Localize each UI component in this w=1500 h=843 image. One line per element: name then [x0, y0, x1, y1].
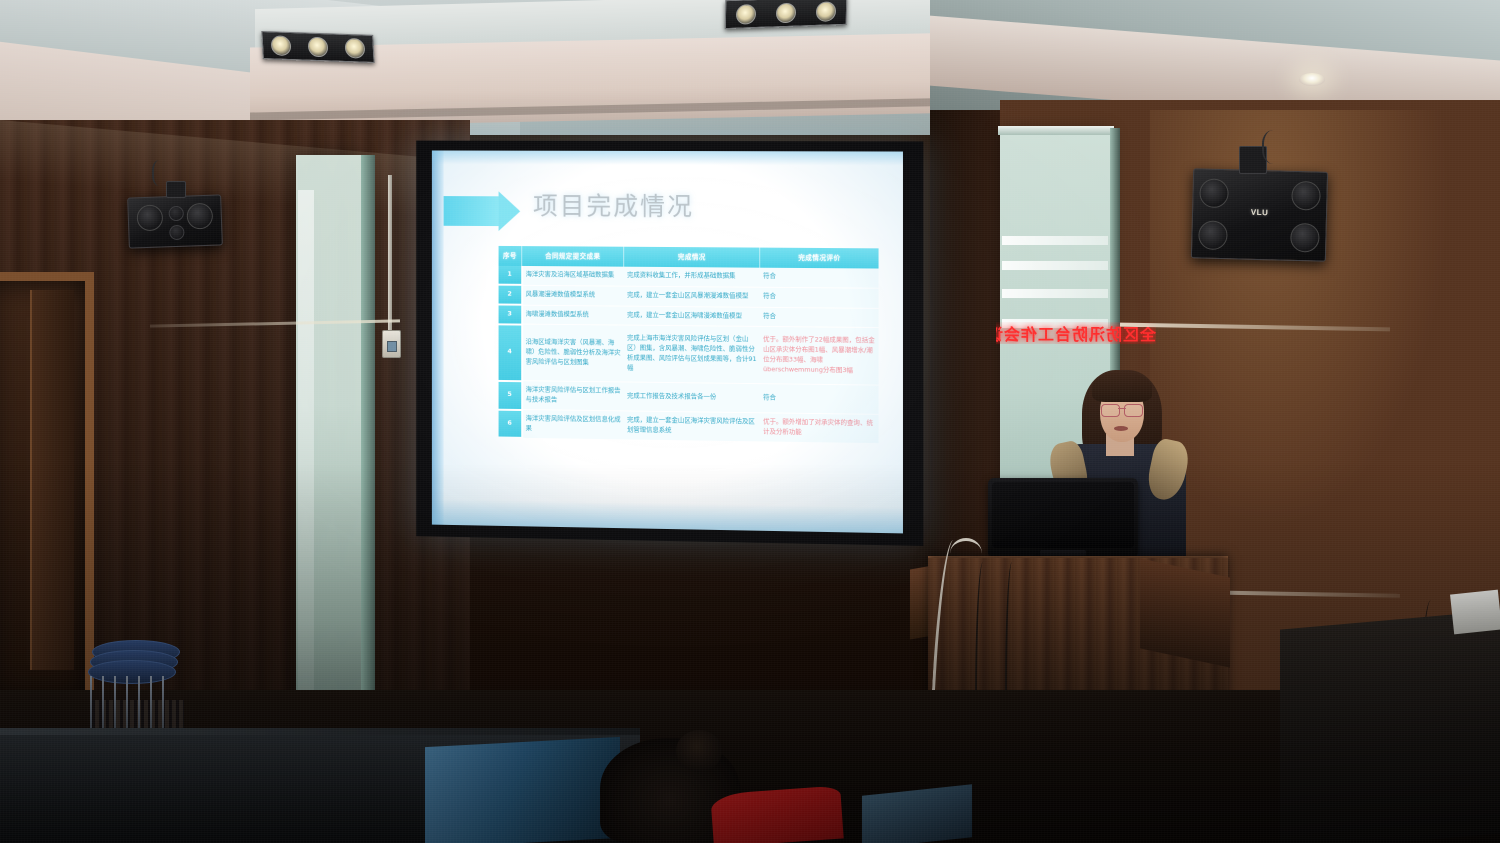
- row-evaluation: 符合: [760, 384, 878, 415]
- row-status: 完成，建立一套金山区海啸漫滩数值模型: [624, 306, 760, 327]
- glass-panel-right-top-trim: [998, 126, 1114, 135]
- row-evaluation: 优于。额外制作了22幅成果图，包括金山区承灾体分布图1幅、风暴潮增水/潮位分布图…: [760, 327, 878, 385]
- podium-monitor[interactable]: [988, 478, 1138, 556]
- row-status: 完成工作报告及技术报告各一份: [624, 382, 760, 413]
- speaker-cone-icon: [186, 203, 213, 230]
- row-no: 3: [499, 305, 522, 325]
- foreground-blue-object: [862, 784, 972, 843]
- wall-speaker-left: [127, 194, 223, 248]
- foreground-desk-right: [1280, 610, 1500, 843]
- row-no: 6: [499, 409, 522, 438]
- row-status: 完成资料收集工作，并形成基础数据集: [624, 267, 760, 287]
- frosted-stripe: [1002, 261, 1108, 270]
- presenter-glasses-icon: [1100, 404, 1144, 415]
- table-header-evaluation: 完成情况评价: [760, 248, 878, 269]
- table-row: 4 沿海区域海洋灾害（风暴潮、海啸）危险性、脆弱性分析及海洋灾害风险评估与区划图…: [499, 324, 879, 385]
- foreground-paper-sheet: [1450, 590, 1500, 635]
- glasses-lens-right: [1124, 404, 1143, 417]
- row-status: 完成，建立一套金山区海洋灾害风险评估及区划管理信息系统: [624, 411, 760, 442]
- speaker-cable-left: [152, 160, 170, 186]
- conference-room-photo: 全区防汛防台工作会议 VLU 项目完成情况 序号: [0, 0, 1500, 843]
- spotlight-lamp-icon: [816, 1, 836, 22]
- speaker-port-icon: [168, 206, 184, 222]
- podium-side-right: [1140, 558, 1230, 667]
- row-evaluation: 符合: [760, 287, 878, 308]
- spotlight-lamp-icon: [307, 37, 328, 58]
- speaker-cable-right: [1262, 130, 1290, 164]
- row-deliverable: 海洋灾害风险评估及区划信息化成果: [522, 410, 624, 440]
- switch-indicator-icon: [387, 341, 397, 352]
- speaker-cone-icon: [1291, 181, 1321, 211]
- row-evaluation: 符合: [760, 307, 878, 328]
- completion-status-table: 序号 合同规定提交成果 完成情况 完成情况评价 1 海洋灾害及沿海区域基础数据集…: [499, 246, 879, 445]
- row-no: 4: [499, 324, 522, 381]
- slide-title: 项目完成情况: [533, 186, 694, 223]
- spotlight-lamp-icon: [271, 35, 292, 56]
- frosted-stripe: [1002, 289, 1108, 298]
- audience-member-hair-bun: [676, 730, 722, 772]
- monitor-screen: [992, 482, 1134, 548]
- frosted-stripe: [1002, 236, 1108, 245]
- ceiling-downlight-right: [1299, 73, 1325, 86]
- spotlight-lamp-icon: [736, 4, 756, 25]
- presenter-mouth: [1114, 426, 1128, 431]
- door-panel-left[interactable]: [30, 290, 74, 670]
- foreground-table-blue-surface: [425, 737, 620, 843]
- row-status: 完成，建立一套金山区风暴潮漫滩数值模型: [624, 286, 760, 307]
- table-header-deliverable: 合同规定提交成果: [522, 246, 624, 267]
- glass-column-left-edge: [361, 155, 375, 780]
- screen-top-glare: [432, 150, 903, 165]
- row-deliverable: 风暴潮漫滩数值模型系统: [522, 285, 624, 306]
- ceiling-spotlight-fixture-left: [261, 31, 374, 63]
- row-no: 1: [499, 266, 522, 285]
- speaker-cone-icon: [1198, 220, 1228, 250]
- table-header-status: 完成情况: [624, 247, 760, 268]
- wall-speaker-right: VLU: [1191, 168, 1328, 262]
- glasses-lens-left: [1101, 404, 1120, 417]
- speaker-port-icon: [169, 225, 185, 241]
- spotlight-lamp-icon: [776, 2, 796, 23]
- speaker-cone-icon: [1290, 223, 1320, 253]
- projection-screen-surface: 项目完成情况 序号 合同规定提交成果 完成情况 完成情况评价 1 海: [432, 150, 903, 533]
- glass-column-left-highlight: [298, 190, 314, 750]
- wall-conduit: [388, 175, 392, 333]
- wall-switch-plate[interactable]: [382, 330, 401, 358]
- red-cloth-item: [710, 786, 843, 843]
- row-status: 完成上海市海洋灾害风险评估与区划（金山区）图集，含风暴潮、海啸危险性、脆弱性分析…: [624, 326, 760, 384]
- ceiling-spotlight-fixture-right: [725, 0, 847, 29]
- projection-screen-frame: 项目完成情况 序号 合同规定提交成果 完成情况 完成情况评价 1 海: [416, 141, 923, 546]
- row-deliverable: 海啸漫滩数值模型系统: [522, 305, 624, 326]
- table-header-no: 序号: [499, 246, 522, 266]
- presenter-hair-fringe: [1092, 372, 1152, 402]
- speaker-bracket-left: [166, 181, 186, 198]
- row-deliverable: 海洋灾害及沿海区域基础数据集: [522, 266, 624, 286]
- row-evaluation: 符合: [760, 268, 878, 288]
- speaker-cone-icon: [1199, 178, 1229, 208]
- screen-edge-tint: [432, 150, 444, 524]
- row-deliverable: 沿海区域海洋灾害（风暴潮、海啸）危险性、脆弱性分析及海洋灾害风险评估与区划图集: [522, 325, 624, 383]
- table-row: 6 海洋灾害风险评估及区划信息化成果 完成，建立一套金山区海洋灾害风险评估及区划…: [499, 409, 879, 443]
- speaker-cone-icon: [136, 204, 163, 231]
- spotlight-lamp-icon: [344, 38, 365, 59]
- table-header-row: 序号 合同规定提交成果 完成情况 完成情况评价: [499, 246, 879, 269]
- presentation-slide: 项目完成情况 序号 合同规定提交成果 完成情况 完成情况评价 1 海: [432, 150, 903, 533]
- row-evaluation: 优于。额外增加了对承灾体的查询、统计及分析功能: [760, 413, 878, 444]
- row-no: 2: [499, 285, 522, 305]
- row-deliverable: 海洋灾害风险评估与区划工作报告与技术报告: [522, 381, 624, 411]
- row-no: 5: [499, 381, 522, 410]
- slide-arrow-accent-icon: [438, 196, 499, 226]
- speaker-brand-label: VLU: [1251, 208, 1269, 217]
